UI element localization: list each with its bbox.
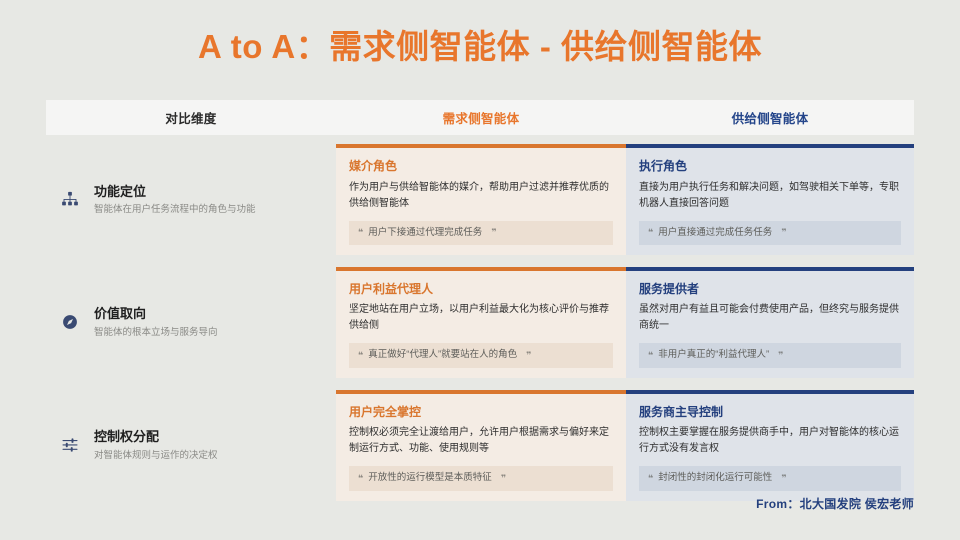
card-description: 直接为用户执行任务和解决问题，如驾驶相关下单等，专职机器人直接回答问题 bbox=[639, 180, 901, 212]
dimension-text: 控制权分配 对智能体规则与运作的决定权 bbox=[94, 428, 218, 462]
quote-close-icon: ❞ bbox=[491, 226, 496, 240]
quote-open-icon: ❝ bbox=[648, 472, 653, 486]
column-header-dimension: 对比维度 bbox=[46, 108, 336, 127]
card-description: 坚定地站在用户立场，以用户利益最大化为核心评价与推荐供给侧 bbox=[349, 302, 613, 334]
card-title: 服务提供者 bbox=[639, 282, 901, 298]
sitemap-icon bbox=[60, 189, 80, 209]
table-header-row: 对比维度 需求侧智能体 供给侧智能体 bbox=[46, 100, 914, 135]
card-quote-text: 非用户真正的“利益代理人” bbox=[658, 348, 769, 362]
column-header-supply: 供给侧智能体 bbox=[626, 108, 914, 127]
card-title: 用户完全掌控 bbox=[349, 405, 613, 421]
dimension-subtitle: 智能体在用户任务流程中的角色与功能 bbox=[94, 203, 256, 216]
card-quote-text: 用户直接通过完成任务任务 bbox=[658, 226, 772, 240]
card-quote-text: 开放性的运行模型是本质特征 bbox=[368, 471, 492, 485]
card-description: 虽然对用户有益且可能会付费使用产品，但终究与服务提供商统一 bbox=[639, 302, 901, 334]
card-quote: ❝ 真正做好“代理人”就要站在人的角色 ❞ bbox=[349, 343, 613, 367]
card-quote-text: 用户下接通过代理完成任务 bbox=[368, 226, 482, 240]
dimension-cell: 价值取向 智能体的根本立场与服务导向 bbox=[46, 267, 336, 378]
card-body: 媒介角色 作为用户与供给智能体的媒介，帮助用户过滤并推荐优质的供给侧智能体 ❝ … bbox=[336, 148, 626, 255]
card-quote: ❝ 开放性的运行模型是本质特征 ❞ bbox=[349, 466, 613, 490]
dimension-text: 功能定位 智能体在用户任务流程中的角色与功能 bbox=[94, 183, 256, 217]
source-attribution: From：北大国发院 侯宏老师 bbox=[756, 495, 914, 512]
dimension-subtitle: 对智能体规则与运作的决定权 bbox=[94, 449, 218, 462]
card-body: 用户完全掌控 控制权必须完全让渡给用户，允许用户根据需求与偏好来定制运行方式、功… bbox=[336, 394, 626, 501]
card-title: 用户利益代理人 bbox=[349, 282, 613, 298]
quote-close-icon: ❞ bbox=[778, 349, 783, 363]
card-title: 媒介角色 bbox=[349, 159, 613, 175]
table-row: 价值取向 智能体的根本立场与服务导向 用户利益代理人 坚定地站在用户立场，以用户… bbox=[46, 267, 914, 378]
slide-root: A to A：需求侧智能体 - 供给侧智能体 对比维度 需求侧智能体 供给侧智能… bbox=[0, 0, 960, 540]
card-body: 服务商主导控制 控制权主要掌握在服务提供商手中，用户对智能体的核心运行方式没有发… bbox=[626, 394, 914, 501]
card-body: 执行角色 直接为用户执行任务和解决问题，如驾驶相关下单等，专职机器人直接回答问题… bbox=[626, 148, 914, 255]
card-description: 控制权必须完全让渡给用户，允许用户根据需求与偏好来定制运行方式、功能、使用规则等 bbox=[349, 425, 613, 457]
card-quote: ❝ 非用户真正的“利益代理人” ❞ bbox=[639, 343, 901, 367]
quote-open-icon: ❝ bbox=[358, 226, 363, 240]
quote-close-icon: ❞ bbox=[781, 472, 786, 486]
demand-card: 用户完全掌控 控制权必须完全让渡给用户，允许用户根据需求与偏好来定制运行方式、功… bbox=[336, 390, 626, 501]
sliders-icon bbox=[60, 435, 80, 455]
card-body: 用户利益代理人 坚定地站在用户立场，以用户利益最大化为核心评价与推荐供给侧 ❝ … bbox=[336, 271, 626, 378]
supply-card: 服务商主导控制 控制权主要掌握在服务提供商手中，用户对智能体的核心运行方式没有发… bbox=[626, 390, 914, 501]
quote-open-icon: ❝ bbox=[358, 472, 363, 486]
card-description: 控制权主要掌握在服务提供商手中，用户对智能体的核心运行方式没有发言权 bbox=[639, 425, 901, 457]
card-body: 服务提供者 虽然对用户有益且可能会付费使用产品，但终究与服务提供商统一 ❝ 非用… bbox=[626, 271, 914, 378]
compass-icon bbox=[60, 312, 80, 332]
card-quote: ❝ 用户直接通过完成任务任务 ❞ bbox=[639, 221, 901, 245]
supply-card: 执行角色 直接为用户执行任务和解决问题，如驾驶相关下单等，专职机器人直接回答问题… bbox=[626, 144, 914, 255]
page-title: A to A：需求侧智能体 - 供给侧智能体 bbox=[0, 20, 960, 68]
quote-open-icon: ❝ bbox=[358, 349, 363, 363]
card-quote-text: 封闭性的封闭化运行可能性 bbox=[658, 471, 772, 485]
card-description: 作为用户与供给智能体的媒介，帮助用户过滤并推荐优质的供给侧智能体 bbox=[349, 180, 613, 212]
demand-card: 媒介角色 作为用户与供给智能体的媒介，帮助用户过滤并推荐优质的供给侧智能体 ❝ … bbox=[336, 144, 626, 255]
quote-open-icon: ❝ bbox=[648, 349, 653, 363]
supply-card: 服务提供者 虽然对用户有益且可能会付费使用产品，但终究与服务提供商统一 ❝ 非用… bbox=[626, 267, 914, 378]
dimension-cell: 控制权分配 对智能体规则与运作的决定权 bbox=[46, 390, 336, 501]
dimension-subtitle: 智能体的根本立场与服务导向 bbox=[94, 326, 218, 339]
quote-close-icon: ❞ bbox=[501, 472, 506, 486]
dimension-title: 控制权分配 bbox=[94, 428, 218, 446]
quote-close-icon: ❞ bbox=[781, 226, 786, 240]
dimension-title: 价值取向 bbox=[94, 305, 218, 323]
dimension-title: 功能定位 bbox=[94, 183, 256, 201]
card-quote: ❝ 封闭性的封闭化运行可能性 ❞ bbox=[639, 466, 901, 490]
card-quote-text: 真正做好“代理人”就要站在人的角色 bbox=[368, 348, 517, 362]
table-row: 功能定位 智能体在用户任务流程中的角色与功能 媒介角色 作为用户与供给智能体的媒… bbox=[46, 144, 914, 255]
quote-close-icon: ❞ bbox=[526, 349, 531, 363]
table-row: 控制权分配 对智能体规则与运作的决定权 用户完全掌控 控制权必须完全让渡给用户，… bbox=[46, 390, 914, 501]
quote-open-icon: ❝ bbox=[648, 226, 653, 240]
table-body: 功能定位 智能体在用户任务流程中的角色与功能 媒介角色 作为用户与供给智能体的媒… bbox=[46, 144, 914, 501]
dimension-cell: 功能定位 智能体在用户任务流程中的角色与功能 bbox=[46, 144, 336, 255]
column-header-demand: 需求侧智能体 bbox=[336, 108, 626, 127]
card-quote: ❝ 用户下接通过代理完成任务 ❞ bbox=[349, 221, 613, 245]
demand-card: 用户利益代理人 坚定地站在用户立场，以用户利益最大化为核心评价与推荐供给侧 ❝ … bbox=[336, 267, 626, 378]
dimension-text: 价值取向 智能体的根本立场与服务导向 bbox=[94, 305, 218, 339]
comparison-table: 对比维度 需求侧智能体 供给侧智能体 bbox=[46, 100, 914, 513]
card-title: 执行角色 bbox=[639, 159, 901, 175]
card-title: 服务商主导控制 bbox=[639, 405, 901, 421]
